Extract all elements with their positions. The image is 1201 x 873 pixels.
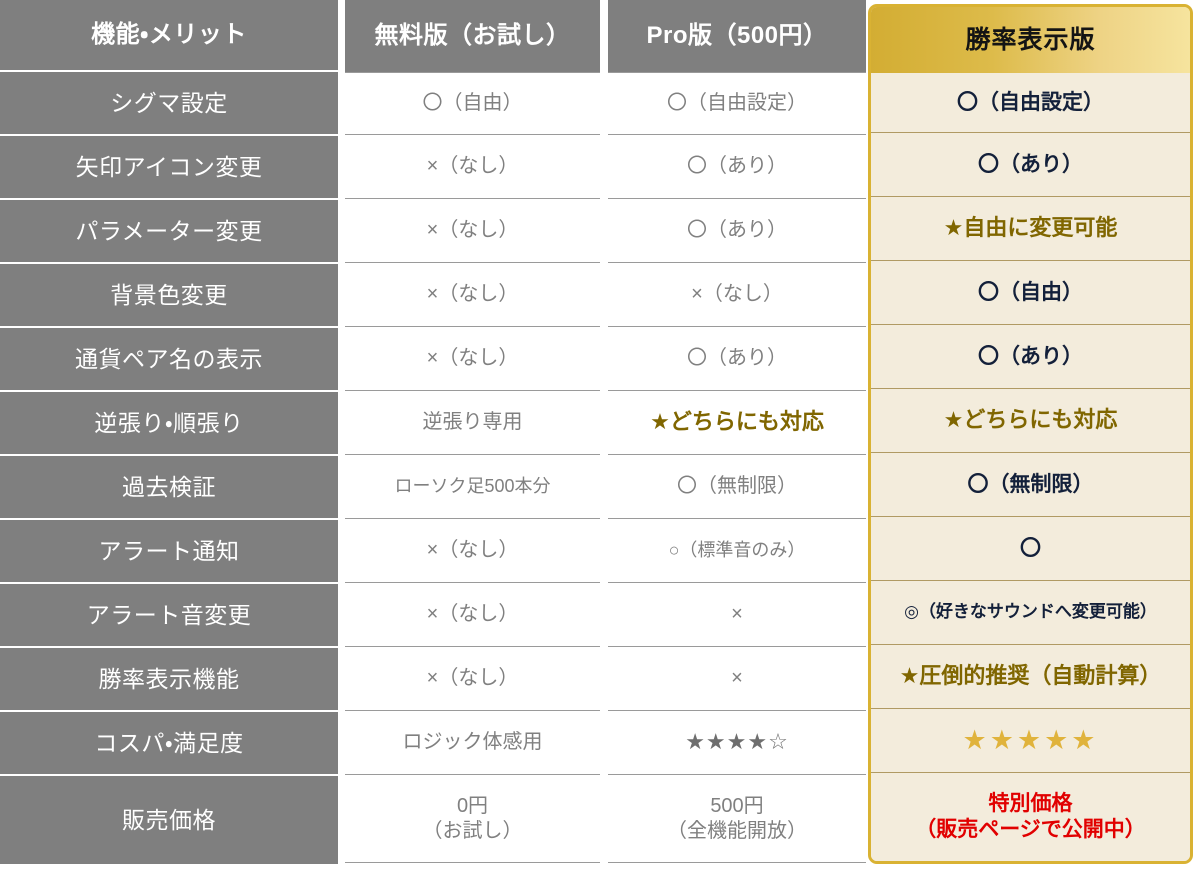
row-label-winrate-feature: 勝率表示機能: [0, 648, 338, 712]
cell-free-price: 0円 （お試し）: [345, 775, 600, 863]
comparison-table: 機能・メリット シグマ設定 矢印アイコン変更 パラメーター変更 背景色変更 通貨…: [0, 0, 1201, 873]
row-label-cost-satisfaction: コスパ・満足度: [0, 712, 338, 776]
row-label-trade-direction: 逆張り・順張り: [0, 392, 338, 456]
row-label-sigma: シグマ設定: [0, 72, 338, 136]
cell-free-backtest: ローソク足500本分: [345, 455, 600, 519]
row-label-parameter: パラメーター変更: [0, 200, 338, 264]
cell-winrate-arrow-icon: 〇（あり）: [871, 133, 1190, 197]
cell-free-alert-sound: ×（なし）: [345, 583, 600, 647]
free-plan-column: 無料版（お試し） 〇（自由） ×（なし） ×（なし） ×（なし） ×（なし） 逆…: [345, 0, 600, 863]
cell-pro-alert-notify: ○（標準音のみ）: [608, 519, 866, 583]
cell-free-currency-pair: ×（なし）: [345, 327, 600, 391]
cell-free-background-color: ×（なし）: [345, 263, 600, 327]
column-header-pro: Pro版（500円）: [608, 0, 866, 72]
cell-winrate-alert-notify: 〇: [871, 517, 1190, 581]
cell-pro-winrate-feature: ×: [608, 647, 866, 711]
row-label-alert-notify: アラート通知: [0, 520, 338, 584]
row-label-currency-pair: 通貨ペア名の表示: [0, 328, 338, 392]
cell-pro-parameter: 〇（あり）: [608, 199, 866, 263]
cell-winrate-alert-sound: ◎（好きなサウンドへ変更可能）: [871, 581, 1190, 645]
cell-winrate-currency-pair: 〇（あり）: [871, 325, 1190, 389]
cell-free-alert-notify: ×（なし）: [345, 519, 600, 583]
cell-free-arrow-icon: ×（なし）: [345, 135, 600, 199]
row-label-arrow-icon: 矢印アイコン変更: [0, 136, 338, 200]
cell-winrate-parameter: ★自由に変更可能: [871, 197, 1190, 261]
cell-pro-backtest: 〇（無制限）: [608, 455, 866, 519]
cell-pro-alert-sound: ×: [608, 583, 866, 647]
cell-winrate-price: 特別価格 （販売ページで公開中）: [871, 773, 1190, 861]
cell-pro-sigma: 〇（自由設定）: [608, 72, 866, 135]
row-label-background-color: 背景色変更: [0, 264, 338, 328]
cell-winrate-backtest: 〇（無制限）: [871, 453, 1190, 517]
cell-free-cost-satisfaction: ロジック体感用: [345, 711, 600, 775]
cell-winrate-trade-direction: ★どちらにも対応: [871, 389, 1190, 453]
row-label-backtest: 過去検証: [0, 456, 338, 520]
row-label-price: 販売価格: [0, 776, 338, 864]
cell-pro-arrow-icon: 〇（あり）: [608, 135, 866, 199]
cell-pro-trade-direction: ★どちらにも対応: [608, 391, 866, 455]
cell-pro-currency-pair: 〇（あり）: [608, 327, 866, 391]
column-header-winrate: 勝率表示版: [871, 7, 1190, 73]
cell-pro-cost-satisfaction: ★★★★☆: [608, 711, 866, 775]
cell-free-winrate-feature: ×（なし）: [345, 647, 600, 711]
cell-winrate-background-color: 〇（自由）: [871, 261, 1190, 325]
cell-pro-price: 500円 （全機能開放）: [608, 775, 866, 863]
cell-free-sigma: 〇（自由）: [345, 72, 600, 135]
row-label-alert-sound: アラート音変更: [0, 584, 338, 648]
cell-winrate-cost-satisfaction: ★★★★★: [871, 709, 1190, 773]
cell-free-parameter: ×（なし）: [345, 199, 600, 263]
column-header-feature: 機能・メリット: [0, 0, 338, 72]
cell-winrate-winrate-feature: ★圧倒的推奨（自動計算）: [871, 645, 1190, 709]
cell-pro-background-color: ×（なし）: [608, 263, 866, 327]
feature-label-column: 機能・メリット シグマ設定 矢印アイコン変更 パラメーター変更 背景色変更 通貨…: [0, 0, 338, 864]
winrate-plan-column-highlighted: 勝率表示版 〇（自由設定） 〇（あり） ★自由に変更可能 〇（自由） 〇（あり）…: [868, 4, 1193, 864]
pro-plan-column: Pro版（500円） 〇（自由設定） 〇（あり） 〇（あり） ×（なし） 〇（あ…: [608, 0, 866, 863]
cell-free-trade-direction: 逆張り専用: [345, 391, 600, 455]
cell-winrate-sigma: 〇（自由設定）: [871, 73, 1190, 133]
column-header-free: 無料版（お試し）: [345, 0, 600, 72]
